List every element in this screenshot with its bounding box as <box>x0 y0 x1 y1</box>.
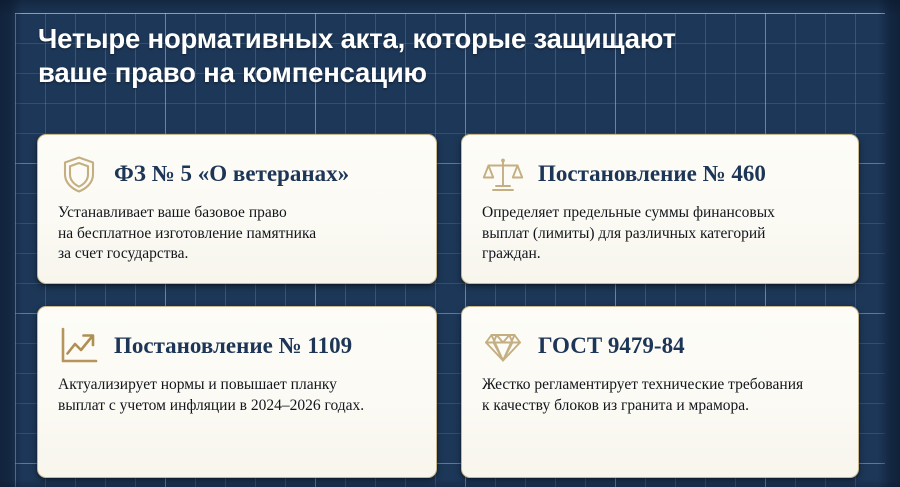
slide-canvas: Четыре нормативных акта, которые защищаю… <box>0 0 900 487</box>
card-body-line: Жестко регламентирует технические требов… <box>482 375 840 396</box>
scales-icon <box>482 153 524 195</box>
card-header: Постановление № 1109 <box>38 307 436 369</box>
card-header: Постановление № 460 <box>462 135 858 197</box>
card-header: ГОСТ 9479-84 <box>462 307 858 369</box>
card-body-line: к качеству блоков из гранита и мрамора. <box>482 396 840 417</box>
card-title: Постановление № 1109 <box>114 332 352 360</box>
card-body: Жестко регламентирует технические требов… <box>462 369 858 416</box>
card-body: Актуализирует нормы и повышает планку вы… <box>38 369 436 416</box>
card-title: ГОСТ 9479-84 <box>538 332 685 360</box>
law-card-postanovlenie-1109[interactable]: Постановление № 1109 Актуализирует нормы… <box>37 306 437 478</box>
law-card-gost-9479-84[interactable]: ГОСТ 9479-84 Жестко регламентирует техни… <box>461 306 859 478</box>
growth-chart-icon <box>58 325 100 367</box>
card-body-line: выплат (лимиты) для различных категорий <box>482 224 840 245</box>
card-body-line: за счет государства. <box>58 244 418 265</box>
card-title: ФЗ № 5 «О ветеранах» <box>114 160 349 188</box>
page-title-line-2: ваше право на компенсацию <box>38 56 838 90</box>
card-body-line: на бесплатное изготовление памятника <box>58 224 418 245</box>
card-header: ФЗ № 5 «О ветеранах» <box>38 135 436 197</box>
law-card-postanovlenie-460[interactable]: Постановление № 460 Определяет предельны… <box>461 134 859 284</box>
card-body-line: Актуализирует нормы и повышает планку <box>58 375 418 396</box>
shield-icon <box>58 153 100 195</box>
page-title-line-1: Четыре нормативных акта, которые защищаю… <box>38 22 838 56</box>
card-body-line: Устанавливает ваше базовое право <box>58 203 418 224</box>
card-body: Устанавливает ваше базовое право на бесп… <box>38 197 436 265</box>
card-body-line: Определяет предельные суммы финансовых <box>482 203 840 224</box>
diamond-icon <box>482 325 524 367</box>
card-title: Постановление № 460 <box>538 160 766 188</box>
page-title: Четыре нормативных акта, которые защищаю… <box>38 22 838 90</box>
card-body-line: выплат с учетом инфляции в 2024–2026 год… <box>58 396 418 417</box>
card-body: Определяет предельные суммы финансовых в… <box>462 197 858 265</box>
background-grid-top-rule <box>15 13 885 14</box>
card-body-line: граждан. <box>482 244 840 265</box>
law-card-fz-5[interactable]: ФЗ № 5 «О ветеранах» Устанавливает ваше … <box>37 134 437 284</box>
